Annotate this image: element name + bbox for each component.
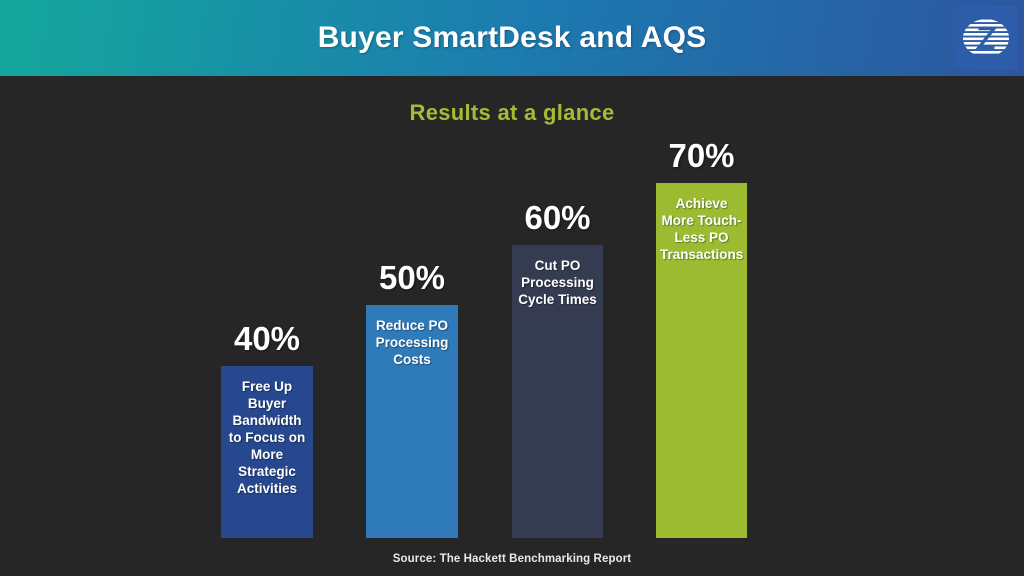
- bar-label-4: Achieve More Touch-Less PO Transactions: [656, 195, 747, 263]
- bar-value-4: 70%: [634, 137, 769, 175]
- bar-label-3: Cut PO Processing Cycle Times: [512, 257, 603, 308]
- bar-label-2: Reduce PO Processing Costs: [366, 317, 458, 368]
- bar-group-3: 60% Cut PO Processing Cycle Times: [512, 245, 603, 538]
- bar-group-1: 40% Free Up Buyer Bandwidth to Focus on …: [221, 366, 313, 538]
- bar-2[interactable]: 50% Reduce PO Processing Costs: [366, 305, 458, 538]
- slide: Buyer SmartDesk and AQS: [0, 0, 1024, 576]
- bar-1[interactable]: 40% Free Up Buyer Bandwidth to Focus on …: [221, 366, 313, 538]
- bar-group-4: 70% Achieve More Touch-Less PO Transacti…: [656, 183, 747, 538]
- bar-3[interactable]: 60% Cut PO Processing Cycle Times: [512, 245, 603, 538]
- bar-value-1: 40%: [199, 320, 335, 358]
- bar-value-3: 60%: [490, 199, 625, 237]
- bar-label-1: Free Up Buyer Bandwidth to Focus on More…: [221, 378, 313, 497]
- bar-group-2: 50% Reduce PO Processing Costs: [366, 305, 458, 538]
- bar-value-2: 50%: [344, 259, 480, 297]
- source-note: Source: The Hackett Benchmarking Report: [0, 553, 1024, 565]
- bar-4[interactable]: 70% Achieve More Touch-Less PO Transacti…: [656, 183, 747, 538]
- bar-chart: 40% Free Up Buyer Bandwidth to Focus on …: [0, 0, 1024, 576]
